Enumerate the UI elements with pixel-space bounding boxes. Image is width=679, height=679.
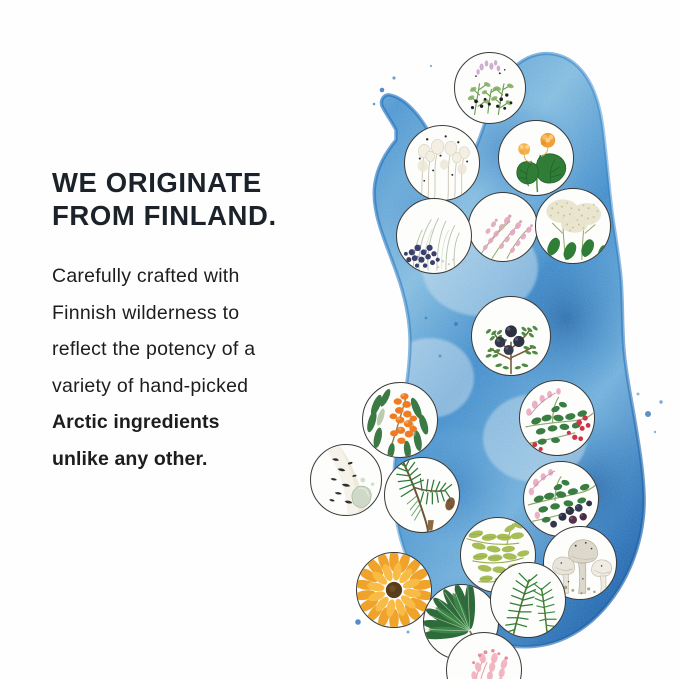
ingredient-circle-blueberry-grass[interactable] — [396, 198, 472, 274]
ingredient-circle-cloudberry[interactable] — [498, 120, 574, 196]
poster-canvas: WE ORIGINATE FROM FINLAND. Carefully cra… — [0, 0, 679, 679]
ingredient-circle-juniper-berry[interactable] — [471, 296, 551, 376]
ingredient-circle-meadowsweet[interactable] — [535, 188, 611, 264]
copy-block: WE ORIGINATE FROM FINLAND. Carefully cra… — [52, 166, 352, 485]
body-line-emphasis: Arctic ingredients — [52, 412, 352, 432]
ingredient-circle-bilberry[interactable] — [523, 461, 599, 537]
ingredient-circle-calendula[interactable] — [356, 552, 432, 628]
meadowsweet-icon — [536, 189, 610, 263]
ingredient-circle-pine-branch[interactable] — [384, 457, 460, 533]
cotton-grass-icon — [405, 126, 479, 200]
crowberry-heather-icon — [455, 53, 525, 123]
ingredient-circle-sea-buckthorn[interactable] — [362, 382, 438, 458]
sea-buckthorn-icon — [363, 383, 437, 457]
body-line-emphasis: unlike any other. — [52, 449, 352, 469]
ingredient-circle-spruce-sprig[interactable] — [490, 562, 566, 638]
ingredient-circle-cotton-grass[interactable] — [404, 125, 480, 201]
blueberry-grass-icon — [397, 199, 471, 273]
body-line: variety of hand-picked — [52, 376, 352, 396]
calendula-icon — [357, 553, 431, 627]
finland-map-illustration — [330, 18, 679, 673]
ingredient-circle-crowberry-heather[interactable] — [454, 52, 526, 124]
spruce-sprig-icon — [491, 563, 565, 637]
body-copy: Carefully crafted with Finnish wildernes… — [52, 266, 352, 469]
bilberry-icon — [524, 462, 598, 536]
ingredient-circle-lingonberry[interactable] — [519, 380, 595, 456]
ingredient-circle-birch-bark[interactable] — [310, 444, 382, 516]
headline-line-2: FROM FINLAND. — [52, 199, 352, 232]
lingonberry-icon — [520, 381, 594, 455]
body-line: Carefully crafted with — [52, 266, 352, 286]
ingredient-circle-willowherb[interactable] — [468, 192, 538, 262]
birch-bark-icon — [311, 445, 381, 515]
body-line: Finnish wilderness to — [52, 303, 352, 323]
headline-line-1: WE ORIGINATE — [52, 166, 352, 199]
pine-branch-icon — [385, 458, 459, 532]
juniper-berry-icon — [472, 297, 550, 375]
body-line: reflect the potency of a — [52, 339, 352, 359]
cloudberry-icon — [499, 121, 573, 195]
willowherb-icon — [469, 193, 537, 261]
page-title: WE ORIGINATE FROM FINLAND. — [52, 166, 352, 232]
